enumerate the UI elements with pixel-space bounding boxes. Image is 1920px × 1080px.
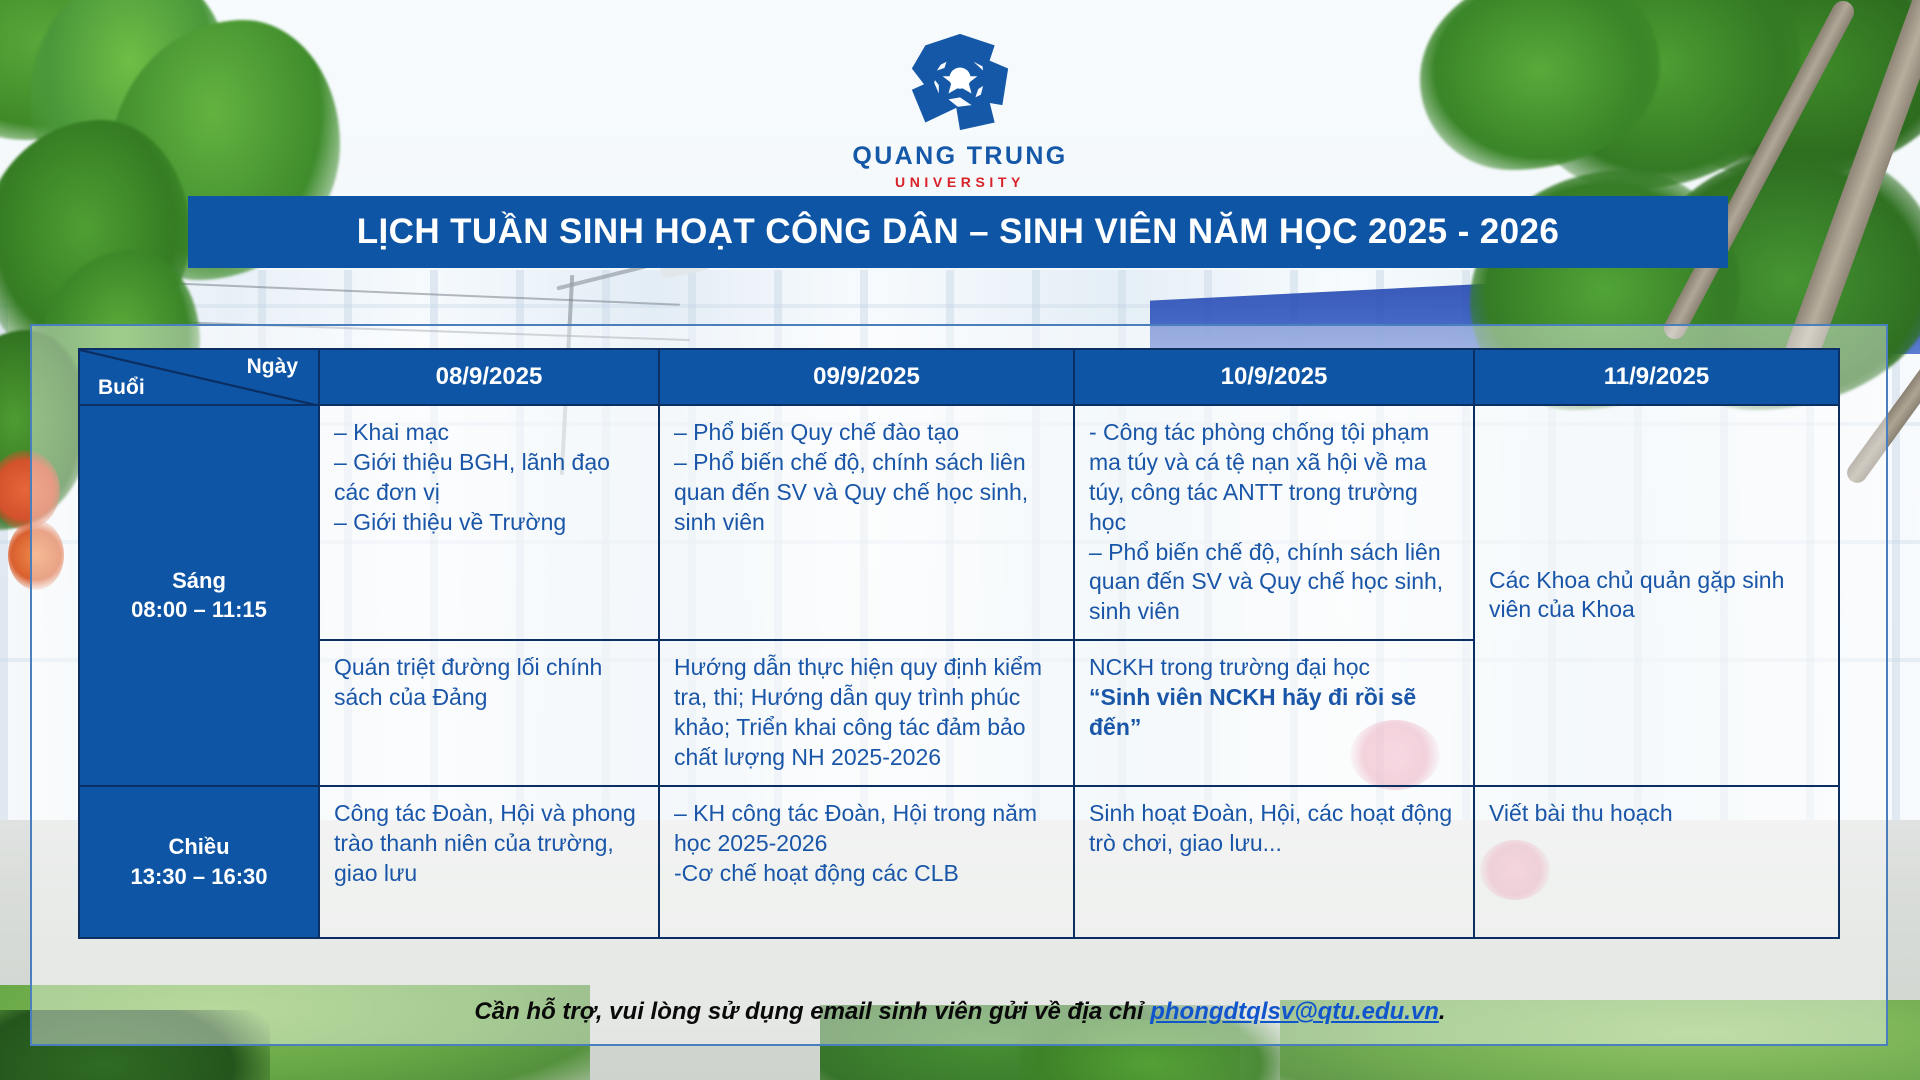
cell-line: – KH công tác Đoàn, Hội trong năm học 20… xyxy=(674,799,1059,859)
cell-line-emphasis: “Sinh viên NCKH hãy đi rồi sẽ đến” xyxy=(1089,683,1459,743)
cell-line: Các Khoa chủ quản gặp sinh viên của Khoa xyxy=(1489,566,1824,626)
cell-line: – Khai mạc xyxy=(334,418,644,448)
cell-line: – Phổ biến Quy chế đào tạo xyxy=(674,418,1059,448)
cell-line: Hướng dẫn thực hiện quy định kiểm tra, t… xyxy=(674,653,1059,773)
table-header-row: Ngày Buổi 08/9/2025 09/9/2025 10/9/2025 … xyxy=(79,349,1839,405)
cell-morning-a-day1: – Khai mạc – Giới thiệu BGH, lãnh đạo cá… xyxy=(319,405,659,640)
cell-line: -Cơ chế hoạt động các CLB xyxy=(674,859,1059,889)
row-label-morning: Sáng 08:00 – 11:15 xyxy=(79,405,319,786)
support-email-link[interactable]: phongdtqlsv@qtu.edu.vn xyxy=(1150,998,1439,1025)
column-header-day-3: 10/9/2025 xyxy=(1074,349,1474,405)
cell-line: Viết bài thu hoạch xyxy=(1489,799,1824,829)
column-header-day-2: 09/9/2025 xyxy=(659,349,1074,405)
cell-morning-b-day3: NCKH trong trường đại học “Sinh viên NCK… xyxy=(1074,640,1474,786)
corner-header-cell: Ngày Buổi xyxy=(79,349,319,405)
cell-line: Sinh hoạt Đoàn, Hội, các hoạt động trò c… xyxy=(1089,799,1459,859)
cell-afternoon-day2: – KH công tác Đoàn, Hội trong năm học 20… xyxy=(659,786,1074,938)
footer-text: Cần hỗ trợ, vui lòng sử dụng email sinh … xyxy=(474,998,1445,1026)
cell-line: – Phổ biến chế độ, chính sách liên quan … xyxy=(674,448,1059,538)
cell-afternoon-day3: Sinh hoạt Đoàn, Hội, các hoạt động trò c… xyxy=(1074,786,1474,938)
footer-note: Cần hỗ trợ, vui lòng sử dụng email sinh … xyxy=(0,998,1920,1026)
row-label-afternoon: Chiều 13:30 – 16:30 xyxy=(79,786,319,938)
cell-line: Quán triệt đường lối chính sách của Đảng xyxy=(334,653,644,713)
footer-prefix: Cần hỗ trợ, vui lòng sử dụng email sinh … xyxy=(474,998,1150,1025)
cell-afternoon-day4: Viết bài thu hoạch xyxy=(1474,786,1839,938)
cell-line: – Giới thiệu về Trường xyxy=(334,508,644,538)
cell-line: – Phổ biến chế độ, chính sách liên quan … xyxy=(1089,538,1459,628)
cell-morning-b-day2: Hướng dẫn thực hiện quy định kiểm tra, t… xyxy=(659,640,1074,786)
brand-subtitle: UNIVERSITY xyxy=(0,174,1920,190)
cell-line: NCKH trong trường đại học xyxy=(1089,653,1459,683)
corner-row-label: Buổi xyxy=(98,376,145,400)
brand-name: QUANG TRUNG xyxy=(0,142,1920,171)
cell-morning-a-day2: – Phổ biến Quy chế đào tạo – Phổ biến ch… xyxy=(659,405,1074,640)
corner-col-label: Ngày xyxy=(247,355,298,379)
quang-trung-star-logo-icon xyxy=(902,30,1018,134)
table-row: Chiều 13:30 – 16:30 Công tác Đoàn, Hội v… xyxy=(79,786,1839,938)
column-header-day-4: 11/9/2025 xyxy=(1474,349,1839,405)
cell-line: Công tác Đoàn, Hội và phong trào thanh n… xyxy=(334,799,644,889)
row-label-morning-time: 08:00 – 11:15 xyxy=(94,595,304,625)
cell-line: - Công tác phòng chống tội phạm ma túy v… xyxy=(1089,418,1459,538)
cell-morning-a-day3: - Công tác phòng chống tội phạm ma túy v… xyxy=(1074,405,1474,640)
row-label-afternoon-time: 13:30 – 16:30 xyxy=(94,862,304,892)
page-title: LỊCH TUẦN SINH HOẠT CÔNG DÂN – SINH VIÊN… xyxy=(357,212,1560,252)
footer-suffix: . xyxy=(1439,998,1446,1025)
brand-logo: QUANG TRUNG UNIVERSITY xyxy=(0,30,1920,190)
row-label-afternoon-name: Chiều xyxy=(94,832,304,862)
cell-morning-day4-merged: Các Khoa chủ quản gặp sinh viên của Khoa xyxy=(1474,405,1839,786)
cell-afternoon-day1: Công tác Đoàn, Hội và phong trào thanh n… xyxy=(319,786,659,938)
schedule-table: Ngày Buổi 08/9/2025 09/9/2025 10/9/2025 … xyxy=(78,348,1840,939)
cell-line: – Giới thiệu BGH, lãnh đạo các đơn vị xyxy=(334,448,644,508)
column-header-day-1: 08/9/2025 xyxy=(319,349,659,405)
table-row: Sáng 08:00 – 11:15 – Khai mạc – Giới thi… xyxy=(79,405,1839,640)
page-title-banner: LỊCH TUẦN SINH HOẠT CÔNG DÂN – SINH VIÊN… xyxy=(188,196,1728,268)
row-label-morning-name: Sáng xyxy=(94,566,304,596)
cell-morning-b-day1: Quán triệt đường lối chính sách của Đảng xyxy=(319,640,659,786)
